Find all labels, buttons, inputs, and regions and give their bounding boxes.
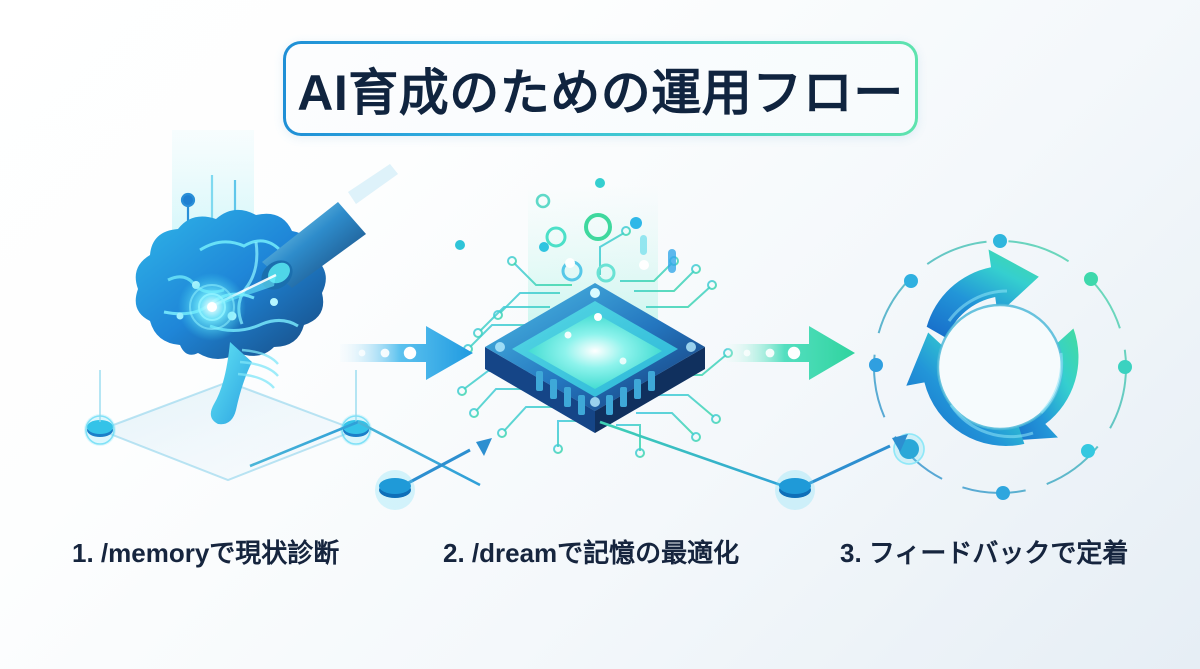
arrow-brain-to-chip: [340, 318, 475, 388]
connector-line-4: [600, 422, 795, 490]
title-banner-inner: AI育成のための運用フロー: [286, 44, 915, 133]
connector-line-1: [250, 422, 358, 466]
connector-network: [0, 380, 1200, 530]
step-3-caption: 3. フィードバックで定着: [840, 533, 1128, 570]
step-1-caption: 1. /memoryで現状診断: [72, 533, 339, 570]
title-banner: AI育成のための運用フロー: [283, 41, 918, 136]
connector-node: [375, 470, 415, 510]
connector-arrowhead-2: [892, 434, 908, 452]
page-title: AI育成のための運用フロー: [297, 53, 904, 125]
step-2-caption: 2. /dreamで記憶の最適化: [443, 533, 739, 570]
slide-canvas: AI育成のための運用フロー: [0, 0, 1200, 669]
scan-focus-point: [207, 302, 217, 312]
arrow-chip-to-loop: [727, 318, 857, 388]
connector-arrowhead-1: [476, 438, 492, 456]
connector-node: [775, 470, 815, 510]
